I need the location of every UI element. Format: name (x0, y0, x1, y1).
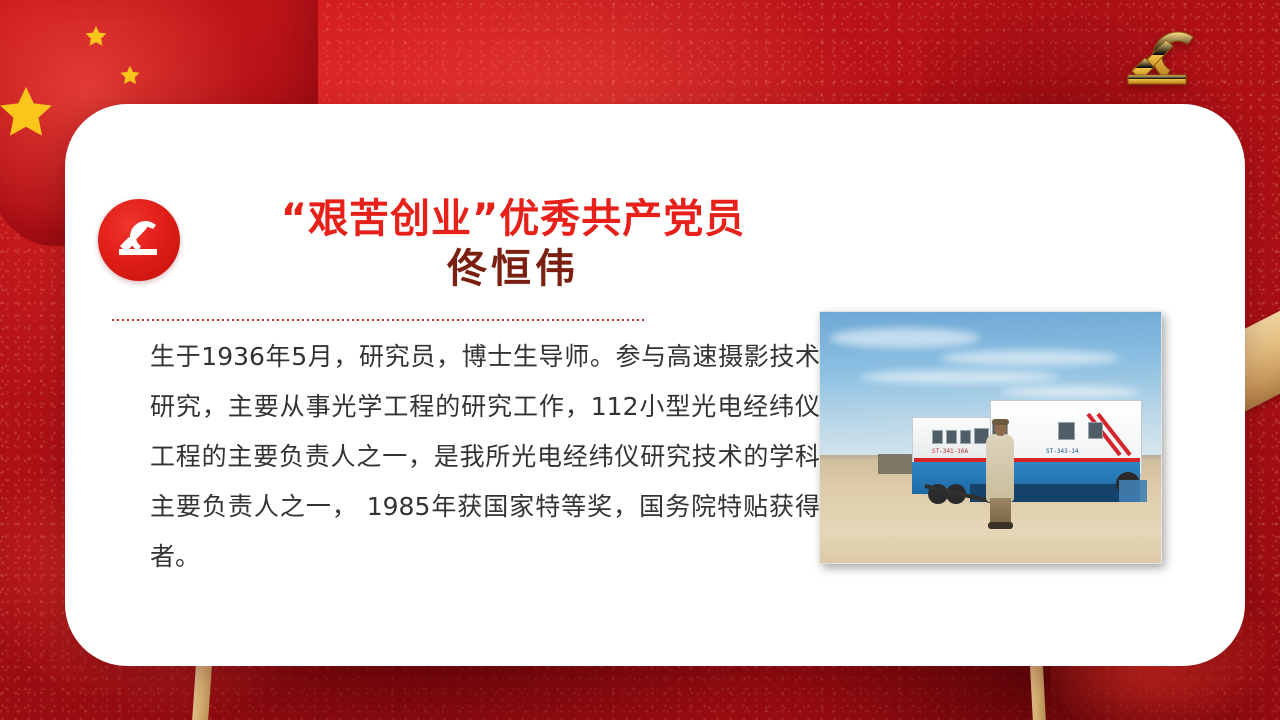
photo-vehicle-marking-left: ST-341-16A (932, 448, 968, 455)
dotted-divider (112, 319, 646, 321)
photo-support-jack (1119, 480, 1147, 502)
content-card: “艰苦创业”优秀共产党员 佟恒伟 生于1936年5月，研究员，博士生导师。参与高… (65, 104, 1245, 666)
party-hammer-sickle-badge-icon (98, 199, 180, 281)
photo-person-hat (992, 419, 1009, 425)
photo-frame: ST-343-14 ST-341-16A (819, 311, 1162, 564)
photo-trailer-window-2 (946, 430, 957, 444)
title-block: “艰苦创业”优秀共产党员 佟恒伟 (193, 196, 833, 292)
photo-trailer-red-stripe-1 (914, 458, 1140, 462)
photo-trailer-window-1 (932, 430, 943, 444)
photo-cloud-4 (1000, 386, 1140, 398)
large-gold-star-icon (0, 82, 58, 146)
photo-trailer-window-3 (960, 430, 971, 444)
person-name: 佟恒伟 (193, 245, 833, 292)
gold-hammer-and-sickle-emblem-icon (1110, 22, 1214, 96)
small-gold-star-icon-2 (118, 64, 142, 88)
photo-cloud-1 (830, 328, 980, 348)
small-gold-star-icon-1 (83, 24, 109, 50)
photo-person-coat (986, 434, 1014, 502)
slide-root: “艰苦创业”优秀共产党员 佟恒伟 生于1936年5月，研究员，博士生导师。参与高… (0, 0, 1280, 720)
photo-person-legs (990, 498, 1011, 524)
photo-vehicle-marking-right: ST-343-14 (1046, 448, 1079, 455)
photo-cloud-3 (860, 370, 1060, 384)
photo-trailer-window-5 (1058, 422, 1075, 440)
page-title: “艰苦创业”优秀共产党员 (193, 196, 833, 243)
photo-person-shoes (988, 522, 1013, 529)
photo-trailer-window-6 (1088, 422, 1103, 439)
photo-cloud-2 (940, 350, 1120, 366)
biography-paragraph: 生于1936年5月，研究员，博士生导师。参与高速摄影技术研究，主要从事光学工程的… (150, 332, 820, 582)
